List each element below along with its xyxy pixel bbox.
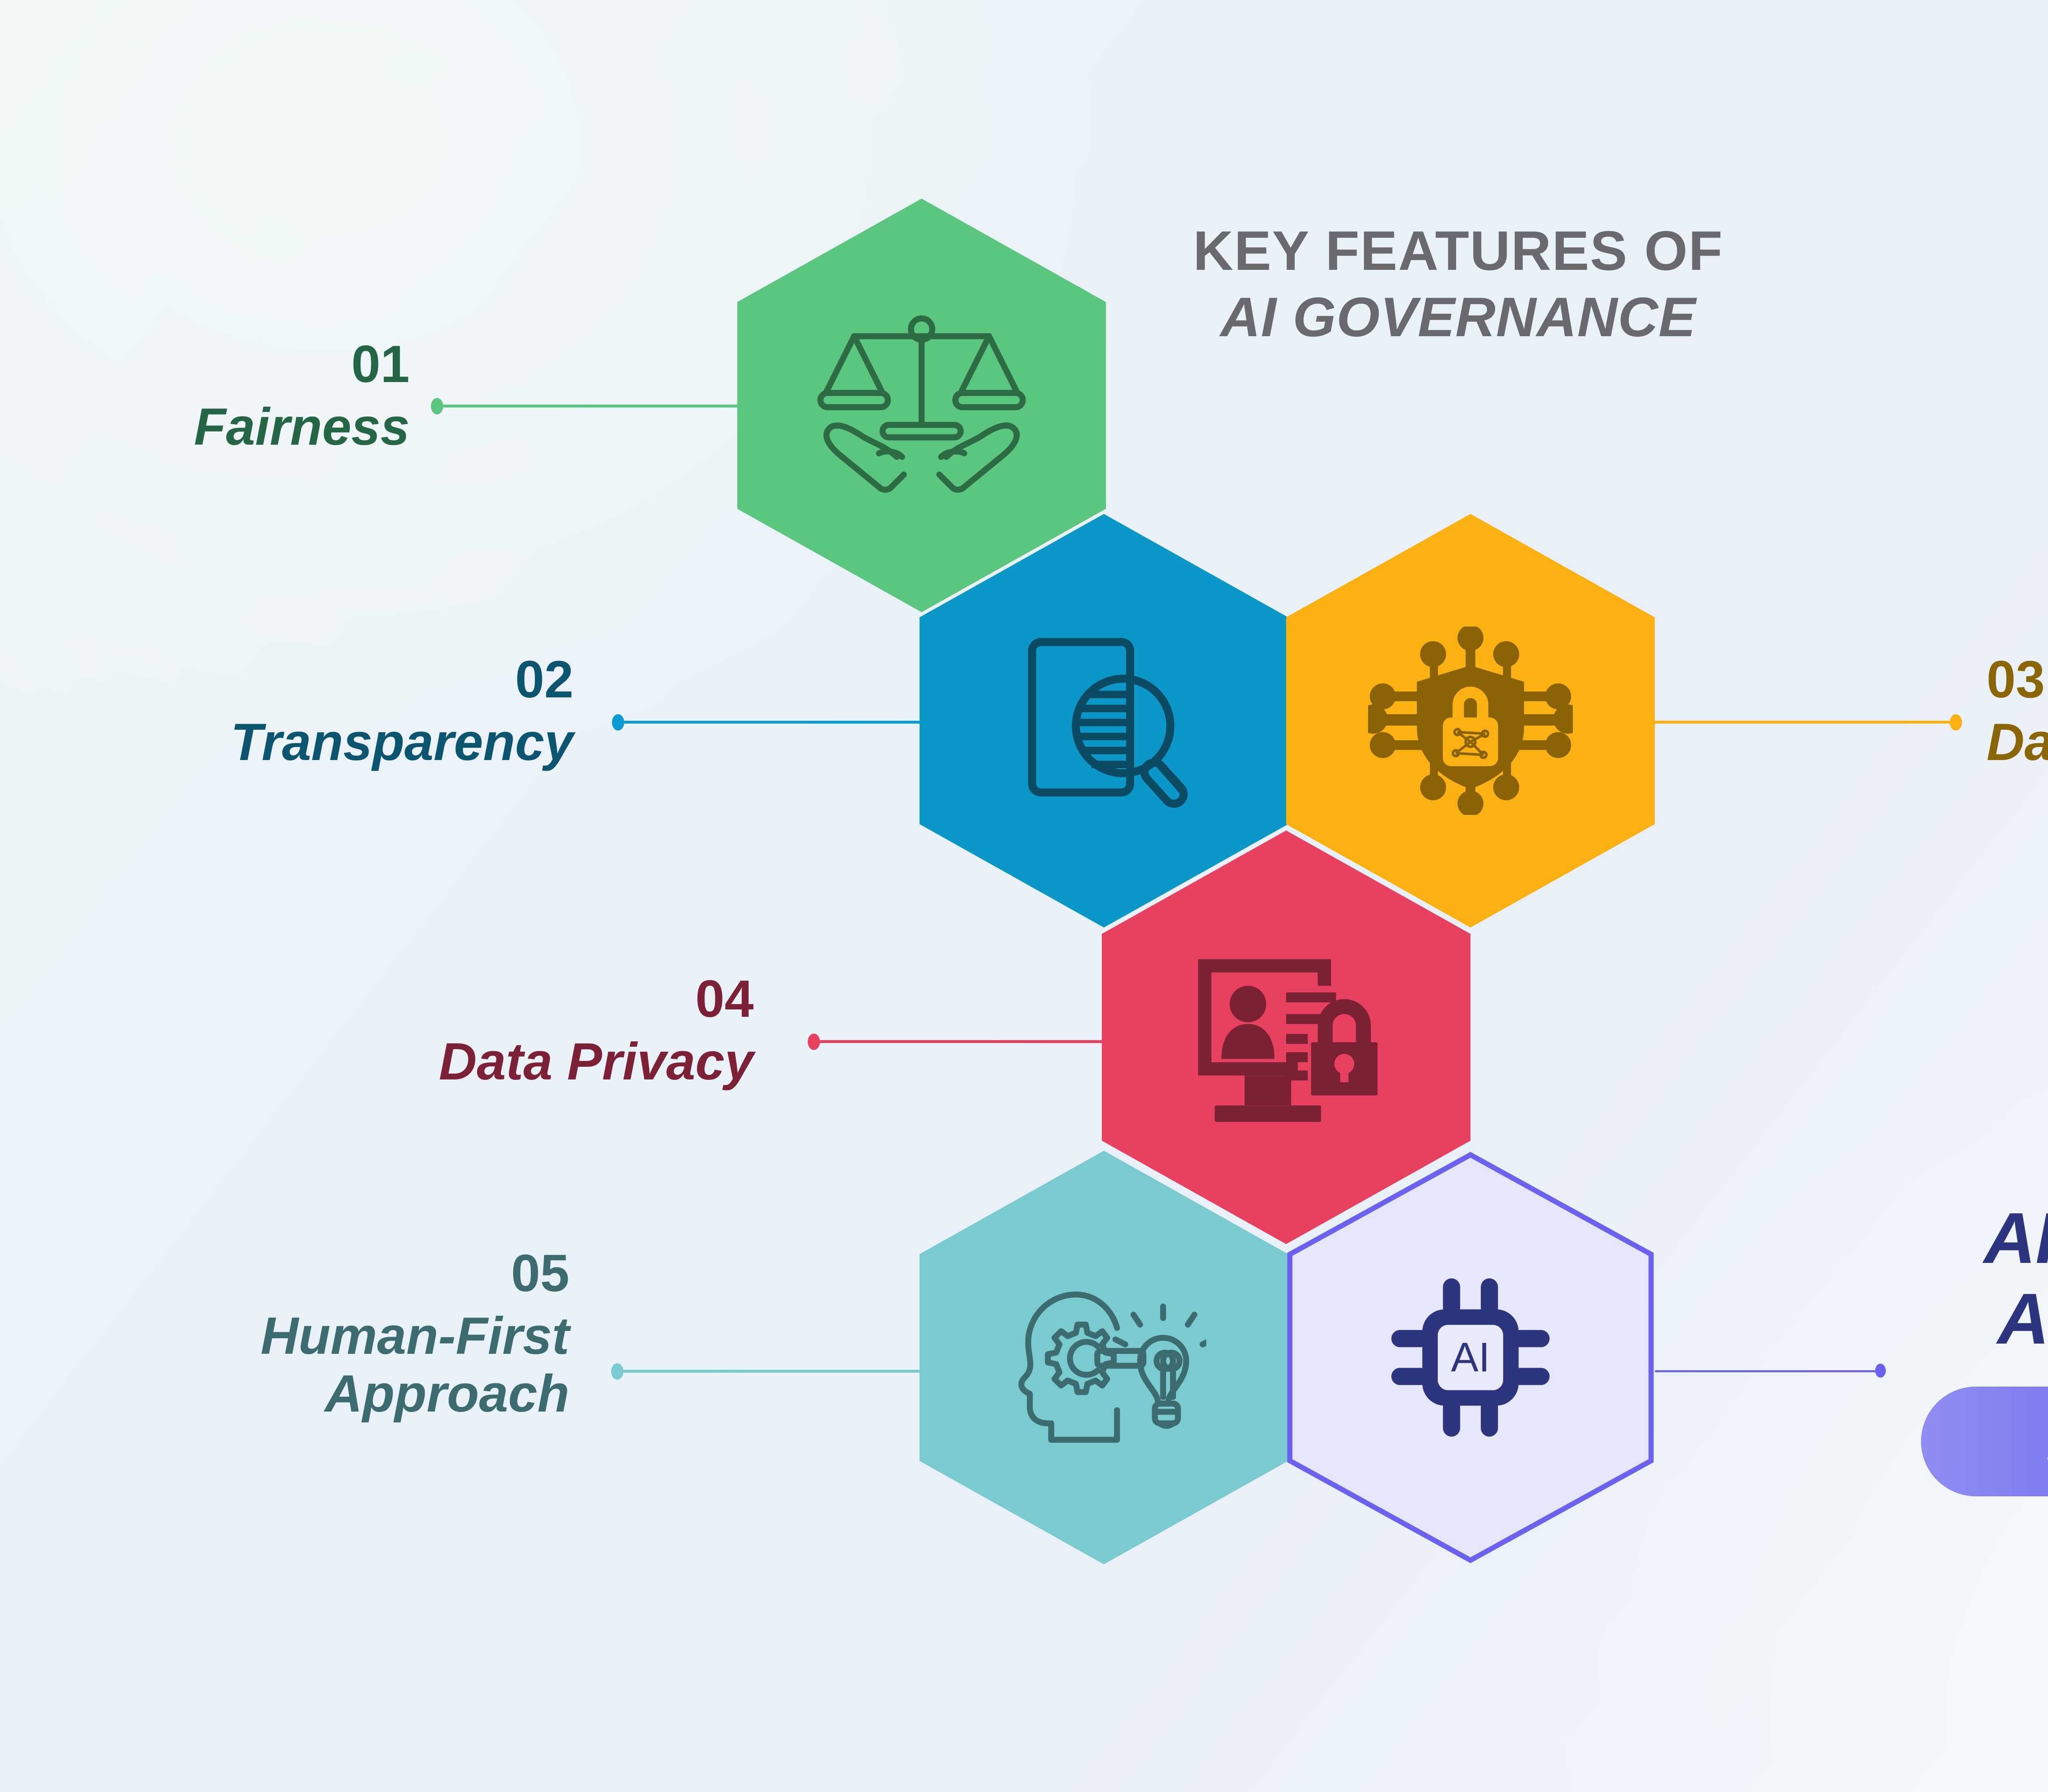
feature-caption-fairness: Fairness	[82, 398, 410, 456]
connector-dot-human-first	[611, 1363, 623, 1380]
connector-dot-transparency	[612, 714, 624, 731]
feature-number-05: 05	[135, 1245, 569, 1303]
cta-block: Take Your AI Readiness Assessment DOWNLO…	[1921, 1122, 2048, 1496]
page-title: KEY FEATURES OF AI GOVERNANCE	[1130, 221, 1786, 346]
connector-dot-data-security	[1950, 714, 1962, 731]
feature-label-human-first-approach: 05 Human-First Approach	[135, 1245, 569, 1423]
feature-caption-transparency: Transparency	[123, 714, 573, 772]
connector-dot-ai-chip	[1875, 1364, 1886, 1378]
feature-label-data-privacy: 04 Data Privacy	[311, 971, 754, 1091]
feature-caption-human-first-line1: Human-First	[135, 1308, 569, 1365]
monitor-user-lock-icon	[1188, 949, 1384, 1125]
feature-caption-data-security: Data Security	[1987, 714, 2048, 772]
feature-label-fairness: 01 Fairness	[82, 336, 410, 456]
download-button[interactable]: DOWNLOAD	[1921, 1387, 2048, 1496]
connector-line-fairness	[442, 405, 741, 407]
feature-label-data-security: 03 Data Security	[1987, 651, 2048, 772]
hexagon-ai-chip[interactable]: AI	[1286, 1151, 1655, 1564]
feature-label-transparency: 02 Transparency	[123, 651, 573, 772]
feature-caption-human-first-line2: Approach	[135, 1365, 569, 1423]
head-gear-lightbulb-icon	[1001, 1265, 1206, 1450]
connector-dot-fairness	[431, 398, 443, 414]
cta-line-2: AI Readiness	[1921, 1198, 2048, 1279]
feature-number-01: 01	[82, 336, 410, 394]
document-magnifier-icon	[1008, 624, 1200, 817]
connector-line-data-security	[1646, 721, 1957, 724]
title-line-1: KEY FEATURES OF	[1130, 221, 1786, 280]
feature-number-04: 04	[311, 971, 754, 1028]
title-line-2: AI GOVERNANCE	[1130, 287, 1786, 346]
balance-scale-in-hands-icon	[815, 311, 1028, 500]
feature-caption-data-privacy: Data Privacy	[311, 1033, 754, 1091]
connector-line-data-privacy	[819, 1040, 1130, 1043]
feature-number-03: 03	[1987, 651, 2048, 709]
feature-number-02: 02	[123, 651, 573, 709]
ai-chip-label: AI	[1451, 1335, 1490, 1380]
ai-chip-icon: AI	[1384, 1272, 1556, 1444]
infographic-canvas: AI KEY FEATURES OF AI GOVERNANCE 01 Fair…	[0, 0, 2048, 1792]
connector-line-transparency	[623, 721, 927, 724]
connector-line-ai-chip	[1655, 1370, 1884, 1372]
connector-line-human-first	[623, 1370, 926, 1373]
cta-line-3: Assessment	[1921, 1279, 2048, 1360]
cta-line-1: Take Your	[1921, 1122, 2048, 1198]
shield-lock-circuit-icon	[1368, 627, 1573, 815]
connector-dot-data-privacy	[808, 1034, 820, 1050]
